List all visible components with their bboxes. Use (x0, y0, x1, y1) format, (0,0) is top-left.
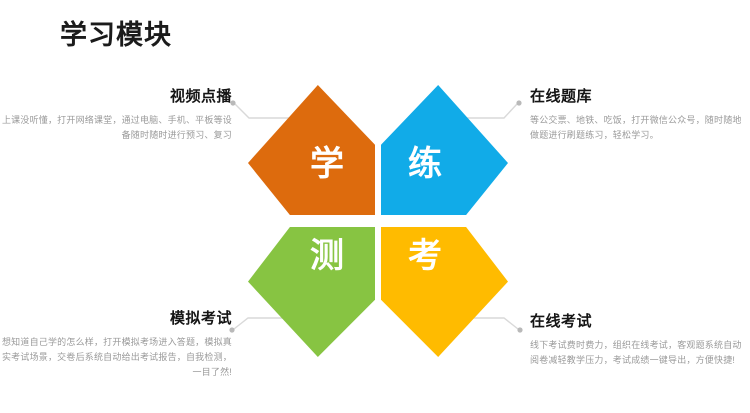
petal-test[interactable]: 测 (248, 227, 375, 357)
slide-canvas: 学习模块 学 练 测 考 (0, 0, 750, 413)
callout-online-exam: 在线考试 线下考试费时费力，组织在线考试，客观题系统自动阅卷减轻教学压力，考试成… (530, 313, 748, 368)
callout-video: 视频点播 上课没听懂，打开网络课堂，通过电脑、手机、平板等设备随时随时进行预习、… (0, 88, 232, 143)
callout-video-title: 视频点播 (0, 88, 232, 106)
petal-exam-label: 考 (408, 239, 442, 273)
callout-question-bank-body: 等公交票、地铁、吃饭，打开微信公众号，随时随地做题进行刷题练习，轻松学习。 (530, 113, 748, 143)
callout-question-bank: 在线题库 等公交票、地铁、吃饭，打开微信公众号，随时随地做题进行刷题练习，轻松学… (530, 88, 748, 143)
petal-exam[interactable]: 考 (381, 227, 508, 357)
petal-test-label: 测 (310, 239, 344, 273)
pinwheel-diagram: 学 练 测 考 (245, 85, 510, 330)
callout-online-exam-title: 在线考试 (530, 313, 748, 331)
callout-mock-exam-title: 模拟考试 (0, 310, 232, 328)
petal-exam-shape (381, 227, 508, 357)
petal-learn[interactable]: 学 (248, 85, 375, 215)
petal-practice-shape (381, 85, 508, 215)
callout-online-exam-body: 线下考试费时费力，组织在线考试，客观题系统自动阅卷减轻教学压力，考试成绩一键导出… (530, 338, 748, 368)
petal-learn-label: 学 (310, 147, 344, 181)
callout-mock-exam: 模拟考试 想知道自己学的怎么样，打开模拟考场进入答题，模拟真实考试场景，交卷后系… (0, 310, 232, 380)
callout-mock-exam-body: 想知道自己学的怎么样，打开模拟考场进入答题，模拟真实考试场景，交卷后系统自动给出… (0, 335, 232, 380)
petal-practice[interactable]: 练 (381, 85, 508, 215)
petal-practice-label: 练 (408, 147, 442, 181)
callout-video-body: 上课没听懂，打开网络课堂，通过电脑、手机、平板等设备随时随时进行预习、复习 (0, 113, 232, 143)
callout-question-bank-title: 在线题库 (530, 88, 748, 106)
